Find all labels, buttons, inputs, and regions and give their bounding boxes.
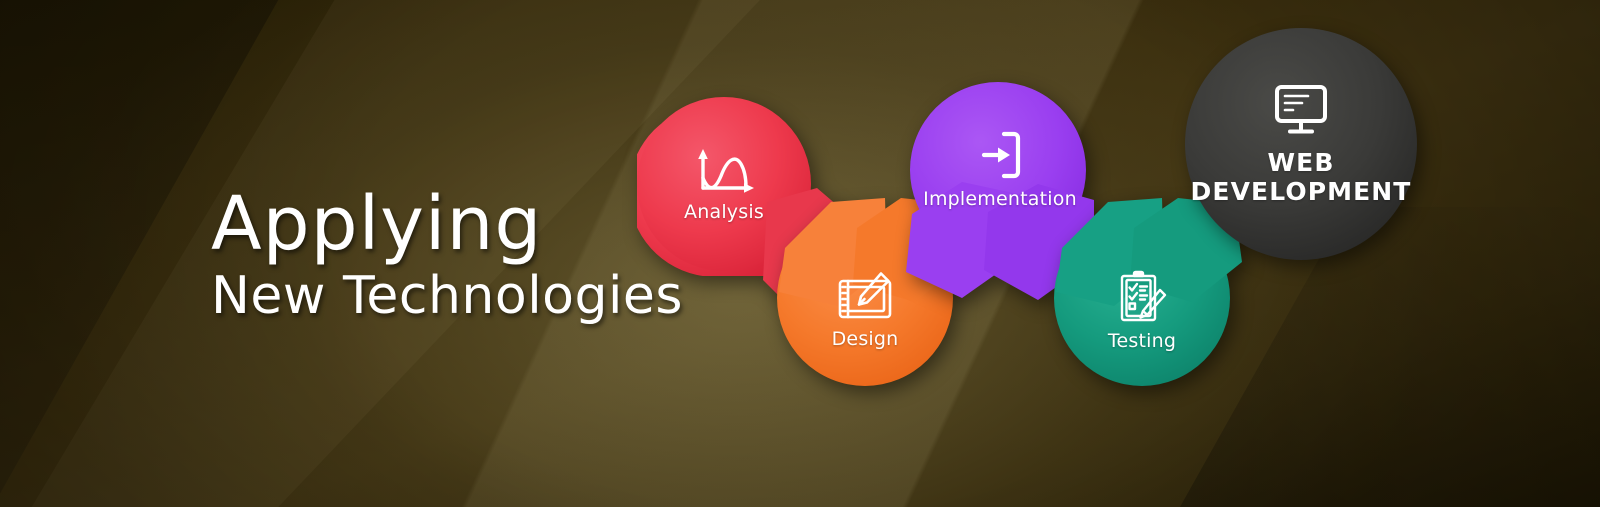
sign-in-arrow-icon — [976, 129, 1024, 181]
node-label-design: Design — [832, 329, 899, 350]
line-chart-icon — [693, 146, 755, 194]
node-label-web-development-line1: WEB — [1267, 149, 1334, 176]
graphics-tablet-pencil-icon — [837, 271, 893, 321]
node-label-testing: Testing — [1108, 331, 1176, 352]
title-secondary: New Technologies — [211, 267, 683, 327]
testing-content: Testing — [1052, 269, 1232, 352]
banner-canvas: Applying New Technologies — [0, 0, 1600, 507]
web-development-content: WEB DEVELOPMENT — [1185, 83, 1417, 205]
node-label-analysis: Analysis — [684, 202, 764, 223]
title-primary: Applying — [211, 188, 683, 261]
node-label-web-development-line2: DEVELOPMENT — [1191, 178, 1412, 205]
clipboard-checklist-pencil-icon — [1116, 269, 1168, 323]
banner-title: Applying New Technologies — [211, 188, 683, 326]
node-web-development[interactable]: WEB DEVELOPMENT — [1185, 28, 1417, 260]
monitor-code-icon — [1272, 83, 1330, 137]
